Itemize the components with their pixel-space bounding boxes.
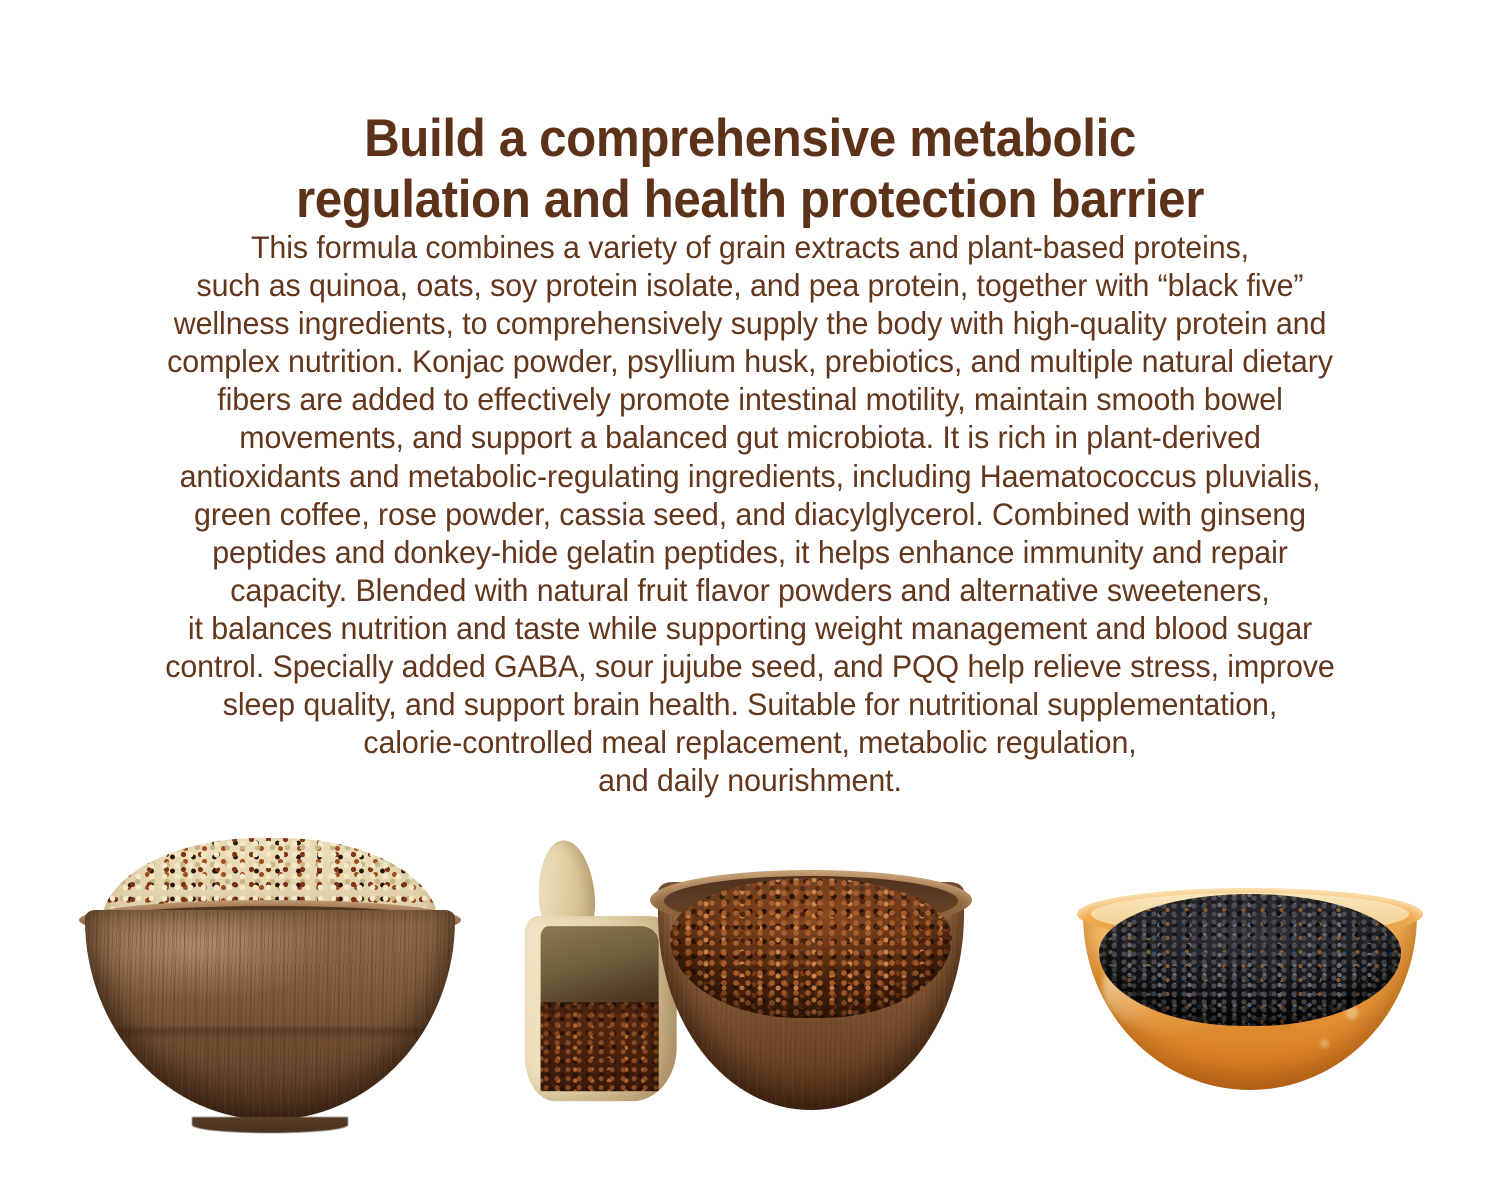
description-line-10: capacity. Blended with natural fruit fla…: [26, 571, 1474, 609]
description-line-14: calorie-controlled meal replacement, met…: [26, 723, 1474, 761]
description-line-13: sleep quality, and support brain health.…: [26, 685, 1474, 723]
photo-tri-color-quinoa-wooden-bowl: [75, 838, 465, 1128]
page-title-line-2: regulation and health protection barrier: [53, 169, 1448, 230]
ingredient-photo-strip: [0, 820, 1500, 1200]
walnut-wooden-bowl: [85, 910, 455, 1120]
description-line-11: it balances nutrition and taste while su…: [26, 609, 1474, 647]
description-line-1: This formula combines a variety of grain…: [26, 228, 1474, 266]
wooden-scoop-body: [525, 916, 677, 1101]
description-line-5: fibers are added to effectively promote …: [26, 380, 1474, 418]
wooden-scoop-cavity: [541, 926, 659, 1091]
photo-red-quinoa-bowl-with-scoop: [510, 830, 970, 1130]
description-line-9: peptides and donkey-hide gelatin peptide…: [26, 533, 1474, 571]
description-line-2: such as quinoa, oats, soy protein isolat…: [26, 266, 1474, 304]
wood-grain-texture: [85, 910, 455, 1120]
description-line-4: complex nutrition. Konjac powder, psylli…: [26, 342, 1474, 380]
page-title: Build a comprehensive metabolic regulati…: [53, 108, 1448, 231]
product-description-text: This formula combines a variety of grain…: [26, 228, 1474, 799]
photo-black-quinoa-orange-ceramic-bowl: [1075, 848, 1425, 1108]
description-line-3: wellness ingredients, to comprehensively…: [26, 304, 1474, 342]
red-quinoa-in-scoop: [541, 1002, 659, 1091]
description-line-15: and daily nourishment.: [26, 761, 1474, 799]
page-title-line-1: Build a comprehensive metabolic: [53, 108, 1448, 169]
description-line-6: movements, and support a balanced gut mi…: [26, 418, 1474, 456]
description-line-12: control. Specially added GABA, sour juju…: [26, 647, 1474, 685]
wood-seam-line: [85, 1028, 455, 1038]
wooden-bowl-foot: [192, 1117, 348, 1133]
description-line-7: antioxidants and metabolic-regulating in…: [26, 457, 1474, 495]
description-line-8: green coffee, rose powder, cassia seed, …: [26, 495, 1474, 533]
product-description-page: Build a comprehensive metabolic regulati…: [0, 0, 1500, 1200]
